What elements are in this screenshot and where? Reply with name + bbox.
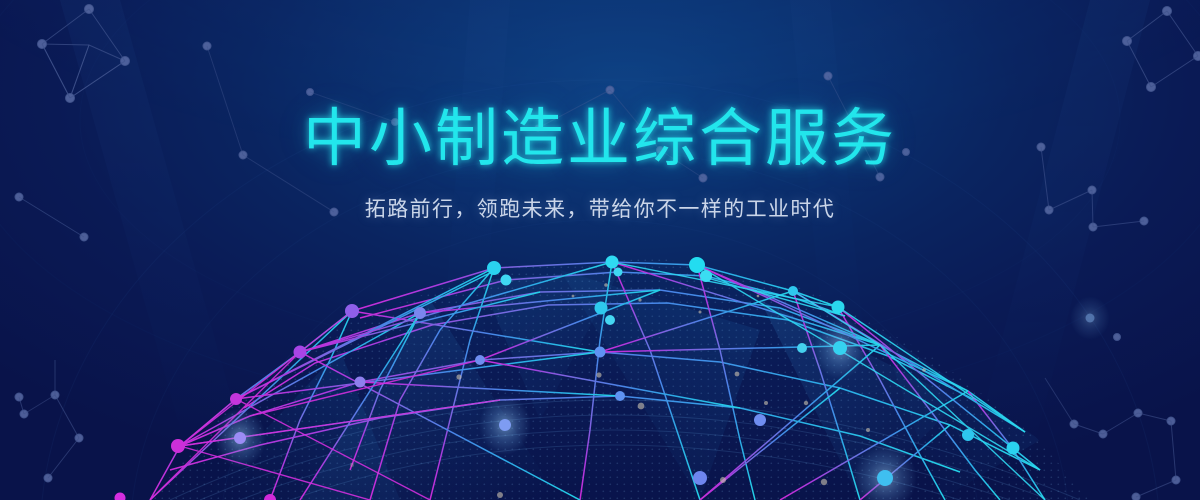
page-title: 中小制造业综合服务 <box>0 101 1200 177</box>
particle-layer <box>0 0 1200 500</box>
page-subtitle: 拓路前行，领跑未来，带给你不一样的工业时代 <box>0 194 1200 226</box>
banner-root: 中小制造业综合服务 拓路前行，领跑未来，带给你不一样的工业时代 <box>0 0 1200 500</box>
